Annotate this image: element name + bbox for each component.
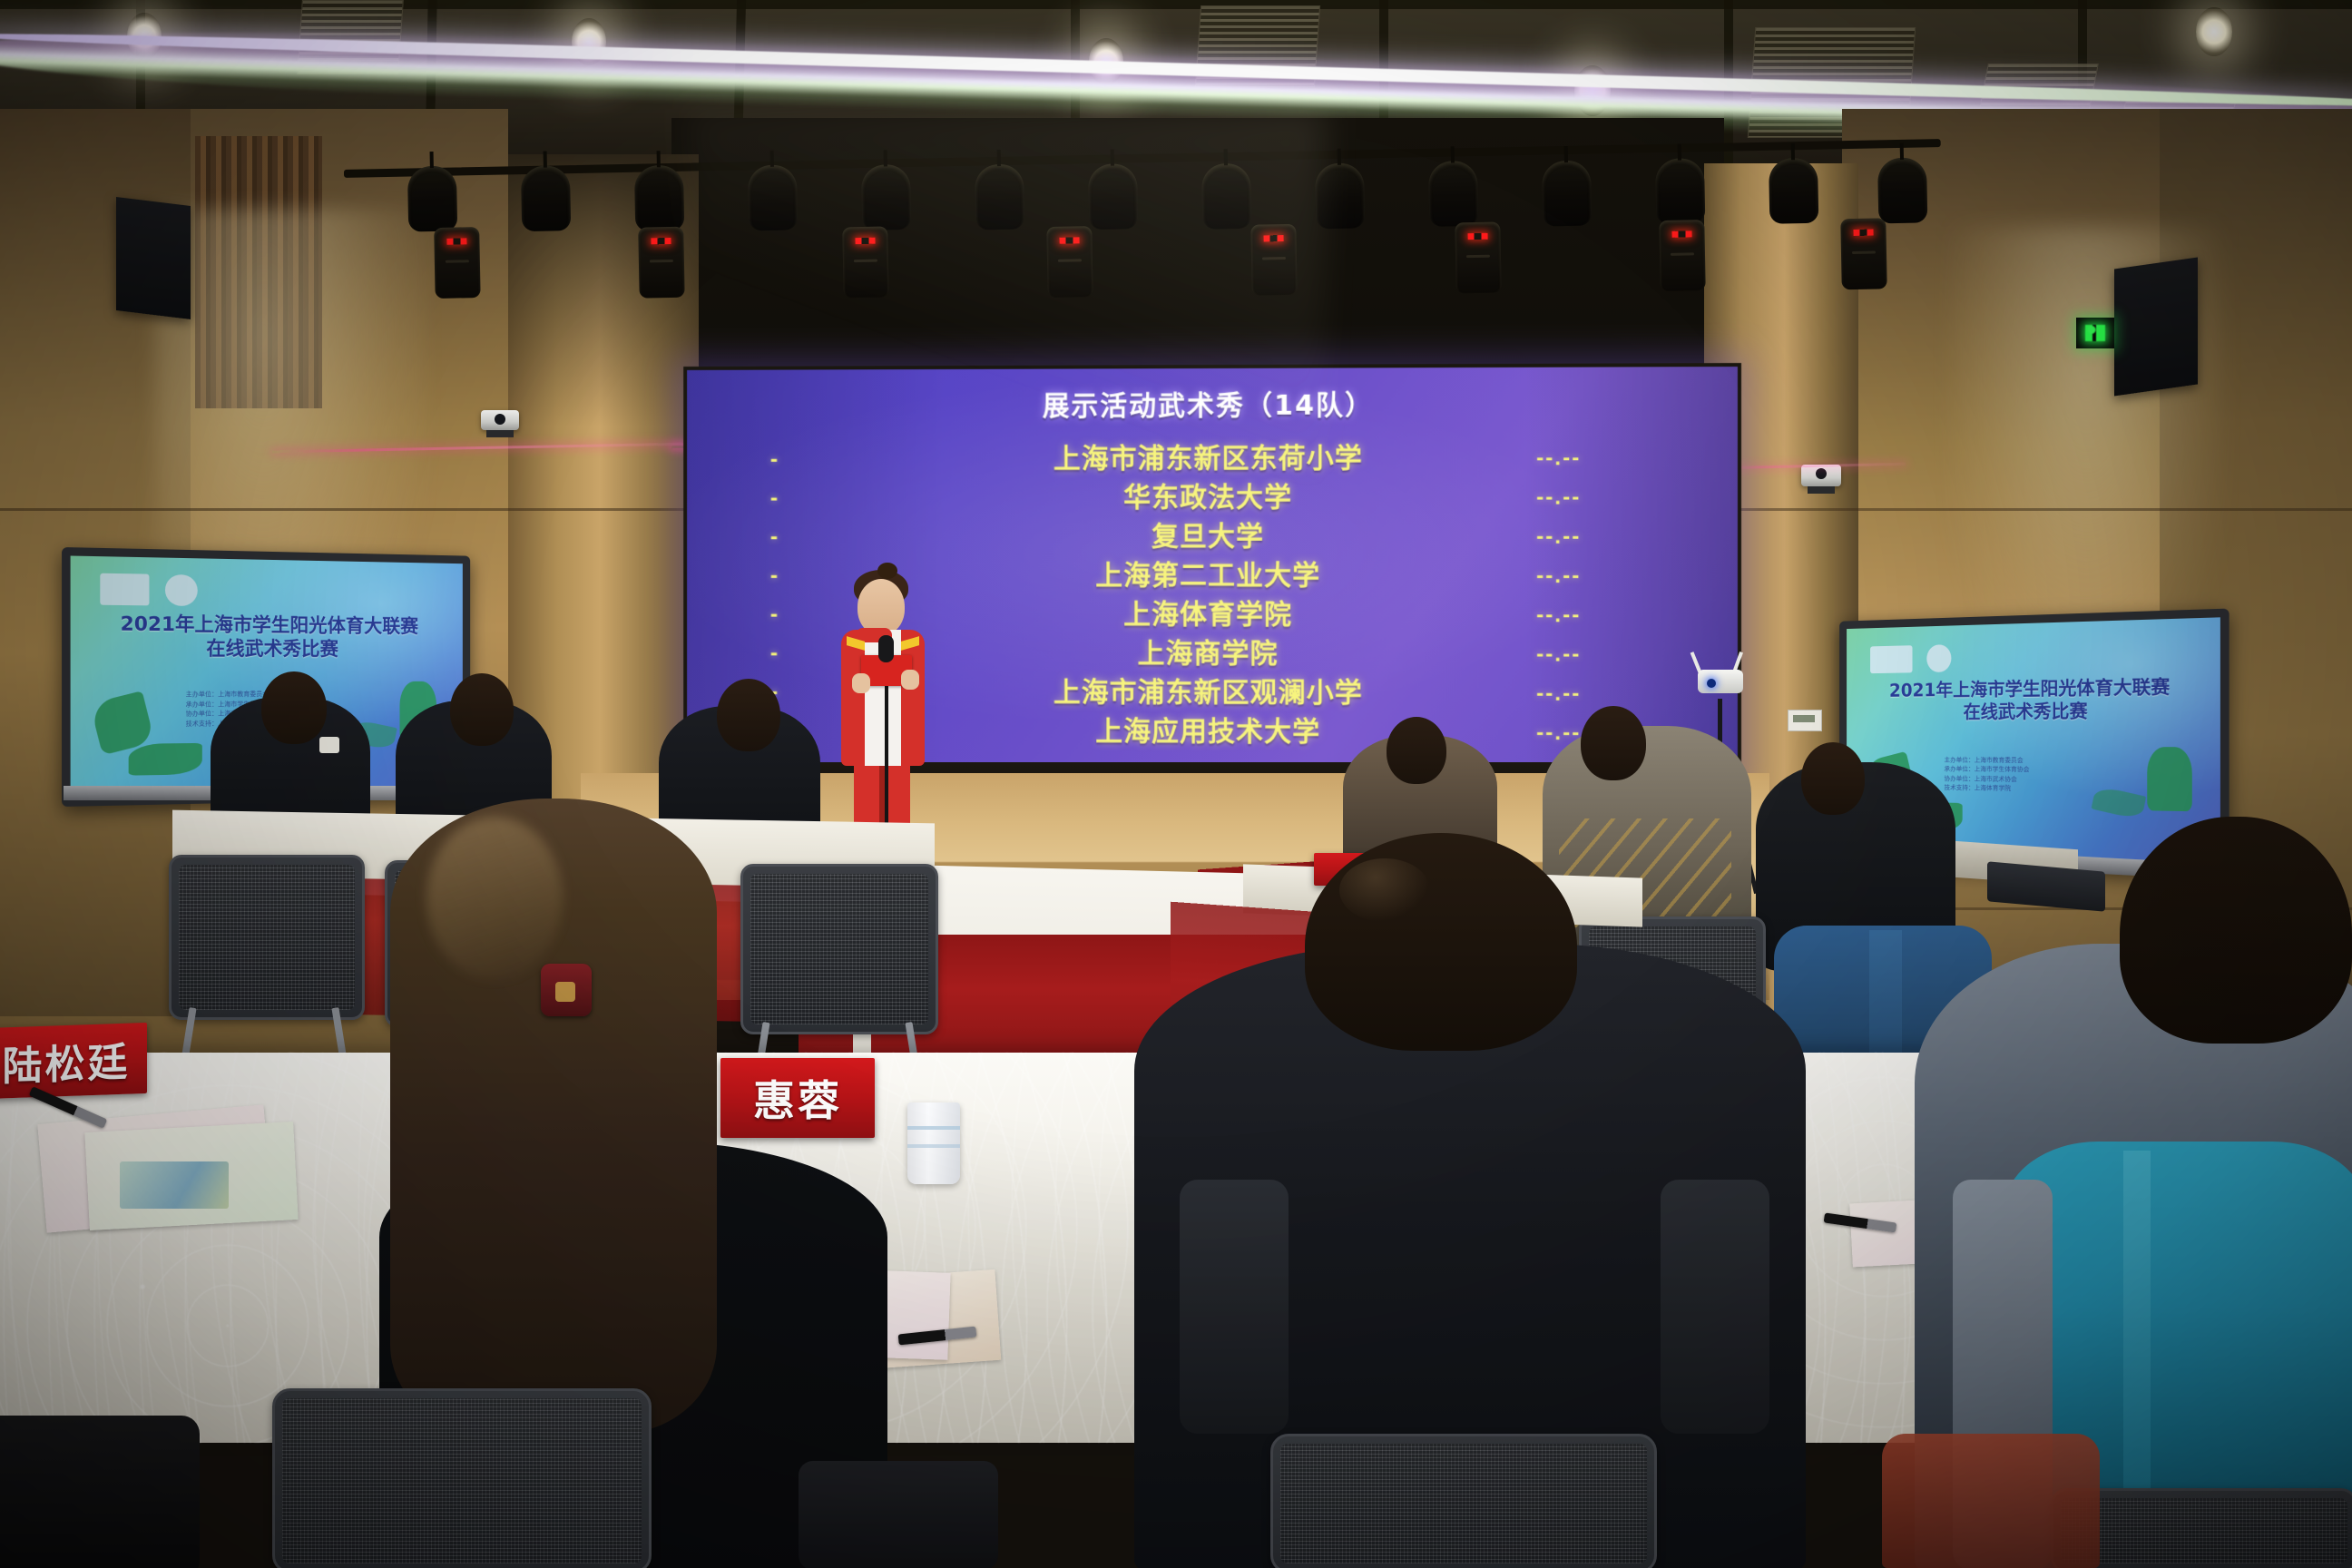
wushu-figure-icon bbox=[2148, 747, 2192, 811]
placard-lu-songting: 陆松廷 bbox=[0, 1023, 147, 1099]
microphone-head bbox=[878, 635, 894, 662]
wall-trim-line bbox=[1704, 508, 2352, 511]
par-can-light bbox=[634, 165, 684, 231]
moving-head-light bbox=[1455, 221, 1501, 293]
exit-sign bbox=[2076, 318, 2114, 348]
moving-head-light bbox=[1659, 220, 1705, 291]
par-can-light bbox=[748, 164, 798, 230]
jacket-sleeve bbox=[1180, 1180, 1289, 1434]
paper-cup[interactable] bbox=[907, 1102, 960, 1184]
row-score: --.-- bbox=[1536, 517, 1581, 556]
row-score: --.-- bbox=[1536, 438, 1581, 477]
bag-on-floor bbox=[799, 1461, 998, 1568]
row-score: --.-- bbox=[1536, 634, 1581, 673]
hair-clip-ornament bbox=[555, 982, 575, 1002]
person-head bbox=[450, 673, 514, 746]
person-head bbox=[1801, 742, 1865, 815]
chair[interactable] bbox=[169, 855, 365, 1020]
running-man-exit-icon bbox=[2085, 325, 2105, 341]
chair[interactable] bbox=[1270, 1434, 1657, 1568]
hair-highlight bbox=[426, 817, 563, 980]
moving-head-light bbox=[1840, 218, 1886, 289]
screen-row: - 华东政法大学 --.-- bbox=[687, 477, 1738, 517]
screen-title: 展示活动武术秀（14队） bbox=[687, 381, 1738, 424]
association-logo-icon bbox=[165, 574, 198, 606]
camera-lens-icon bbox=[1707, 679, 1716, 688]
par-can-light bbox=[1428, 161, 1478, 227]
row-score: --.-- bbox=[1536, 477, 1581, 516]
par-can-light bbox=[521, 165, 571, 231]
event-logo-icon bbox=[100, 573, 149, 605]
ptz-camera-left bbox=[481, 410, 519, 430]
person-head bbox=[261, 671, 327, 744]
foreground-person-right-head bbox=[2120, 817, 2352, 1044]
left-monitor-title: 2021年上海市学生阳光体育大联赛 在线武术秀比赛 bbox=[87, 612, 448, 661]
seated-person-red-top bbox=[1882, 1434, 2100, 1568]
placard-name: 陆松廷 bbox=[3, 1030, 131, 1093]
person-head bbox=[1387, 717, 1446, 784]
par-can-light bbox=[1088, 163, 1138, 230]
par-can-light bbox=[1769, 158, 1818, 224]
presenter-hair-bun bbox=[877, 563, 897, 579]
ceiling-downlight bbox=[2196, 7, 2232, 56]
wall-panel-display bbox=[1793, 715, 1815, 722]
placard-name: 惠蓉 bbox=[753, 1068, 842, 1128]
presenter-hand bbox=[901, 670, 919, 690]
jacket-sleeve bbox=[1661, 1180, 1769, 1434]
shirt-collar bbox=[319, 737, 339, 753]
ptz-bracket-left bbox=[486, 430, 514, 437]
row-score: --.-- bbox=[1536, 674, 1581, 713]
right-monitor-org-credits: 主办单位：上海市教育委员会 承办单位：上海市学生体育协会 协办单位：上海市武术协… bbox=[1945, 756, 2156, 796]
booklet-cover-art bbox=[120, 1161, 229, 1209]
chair[interactable] bbox=[740, 864, 938, 1034]
placard-hui-rong: 惠蓉 bbox=[720, 1058, 875, 1138]
moving-head-light bbox=[434, 227, 480, 299]
right-monitor-title: 2021年上海市学生阳光体育大联赛 在线武术秀比赛 bbox=[1860, 675, 2204, 724]
bag-on-floor bbox=[0, 1416, 200, 1568]
wall-trim-line bbox=[0, 508, 690, 511]
auditorium-photo: 展示活动武术秀（14队） - 上海市浦东新区东荷小学 --.-- - 华东政法大… bbox=[0, 0, 2352, 1568]
presenter-head bbox=[857, 579, 905, 635]
par-can-light bbox=[1542, 161, 1592, 227]
ptz-camera-right bbox=[1801, 465, 1841, 486]
par-can-light bbox=[1315, 162, 1365, 229]
ptz-bracket-right bbox=[1808, 486, 1835, 494]
par-can-light bbox=[1201, 163, 1251, 230]
par-can-light bbox=[975, 164, 1024, 230]
event-logo-icon bbox=[1870, 645, 1912, 673]
wushu-figure-icon bbox=[129, 743, 202, 775]
presenter-hand bbox=[852, 673, 870, 693]
moving-head-light bbox=[1250, 224, 1297, 296]
wall-speaker-left bbox=[116, 197, 191, 319]
par-can-light bbox=[1877, 157, 1927, 223]
person-head bbox=[1581, 706, 1646, 780]
hair-highlight bbox=[1339, 858, 1430, 922]
screen-row: - 复旦大学 --.-- bbox=[687, 516, 1738, 556]
moving-head-light bbox=[842, 226, 888, 298]
par-can-light bbox=[1655, 158, 1705, 224]
person-head bbox=[717, 679, 780, 751]
row-score: --.-- bbox=[1536, 556, 1581, 595]
screen-row: - 上海市浦东新区东荷小学 --.-- bbox=[687, 438, 1738, 479]
chair[interactable] bbox=[272, 1388, 652, 1568]
foreground-person-head bbox=[1305, 833, 1577, 1051]
par-can-light bbox=[861, 164, 911, 230]
moving-head-light bbox=[1046, 226, 1093, 298]
par-can-light bbox=[407, 166, 457, 232]
wall-speaker-right bbox=[2114, 258, 2198, 397]
row-score: --.-- bbox=[1536, 595, 1581, 634]
camera-body bbox=[1698, 670, 1743, 693]
moving-head-light bbox=[638, 227, 684, 299]
stage-lighting-truss bbox=[344, 121, 1944, 306]
